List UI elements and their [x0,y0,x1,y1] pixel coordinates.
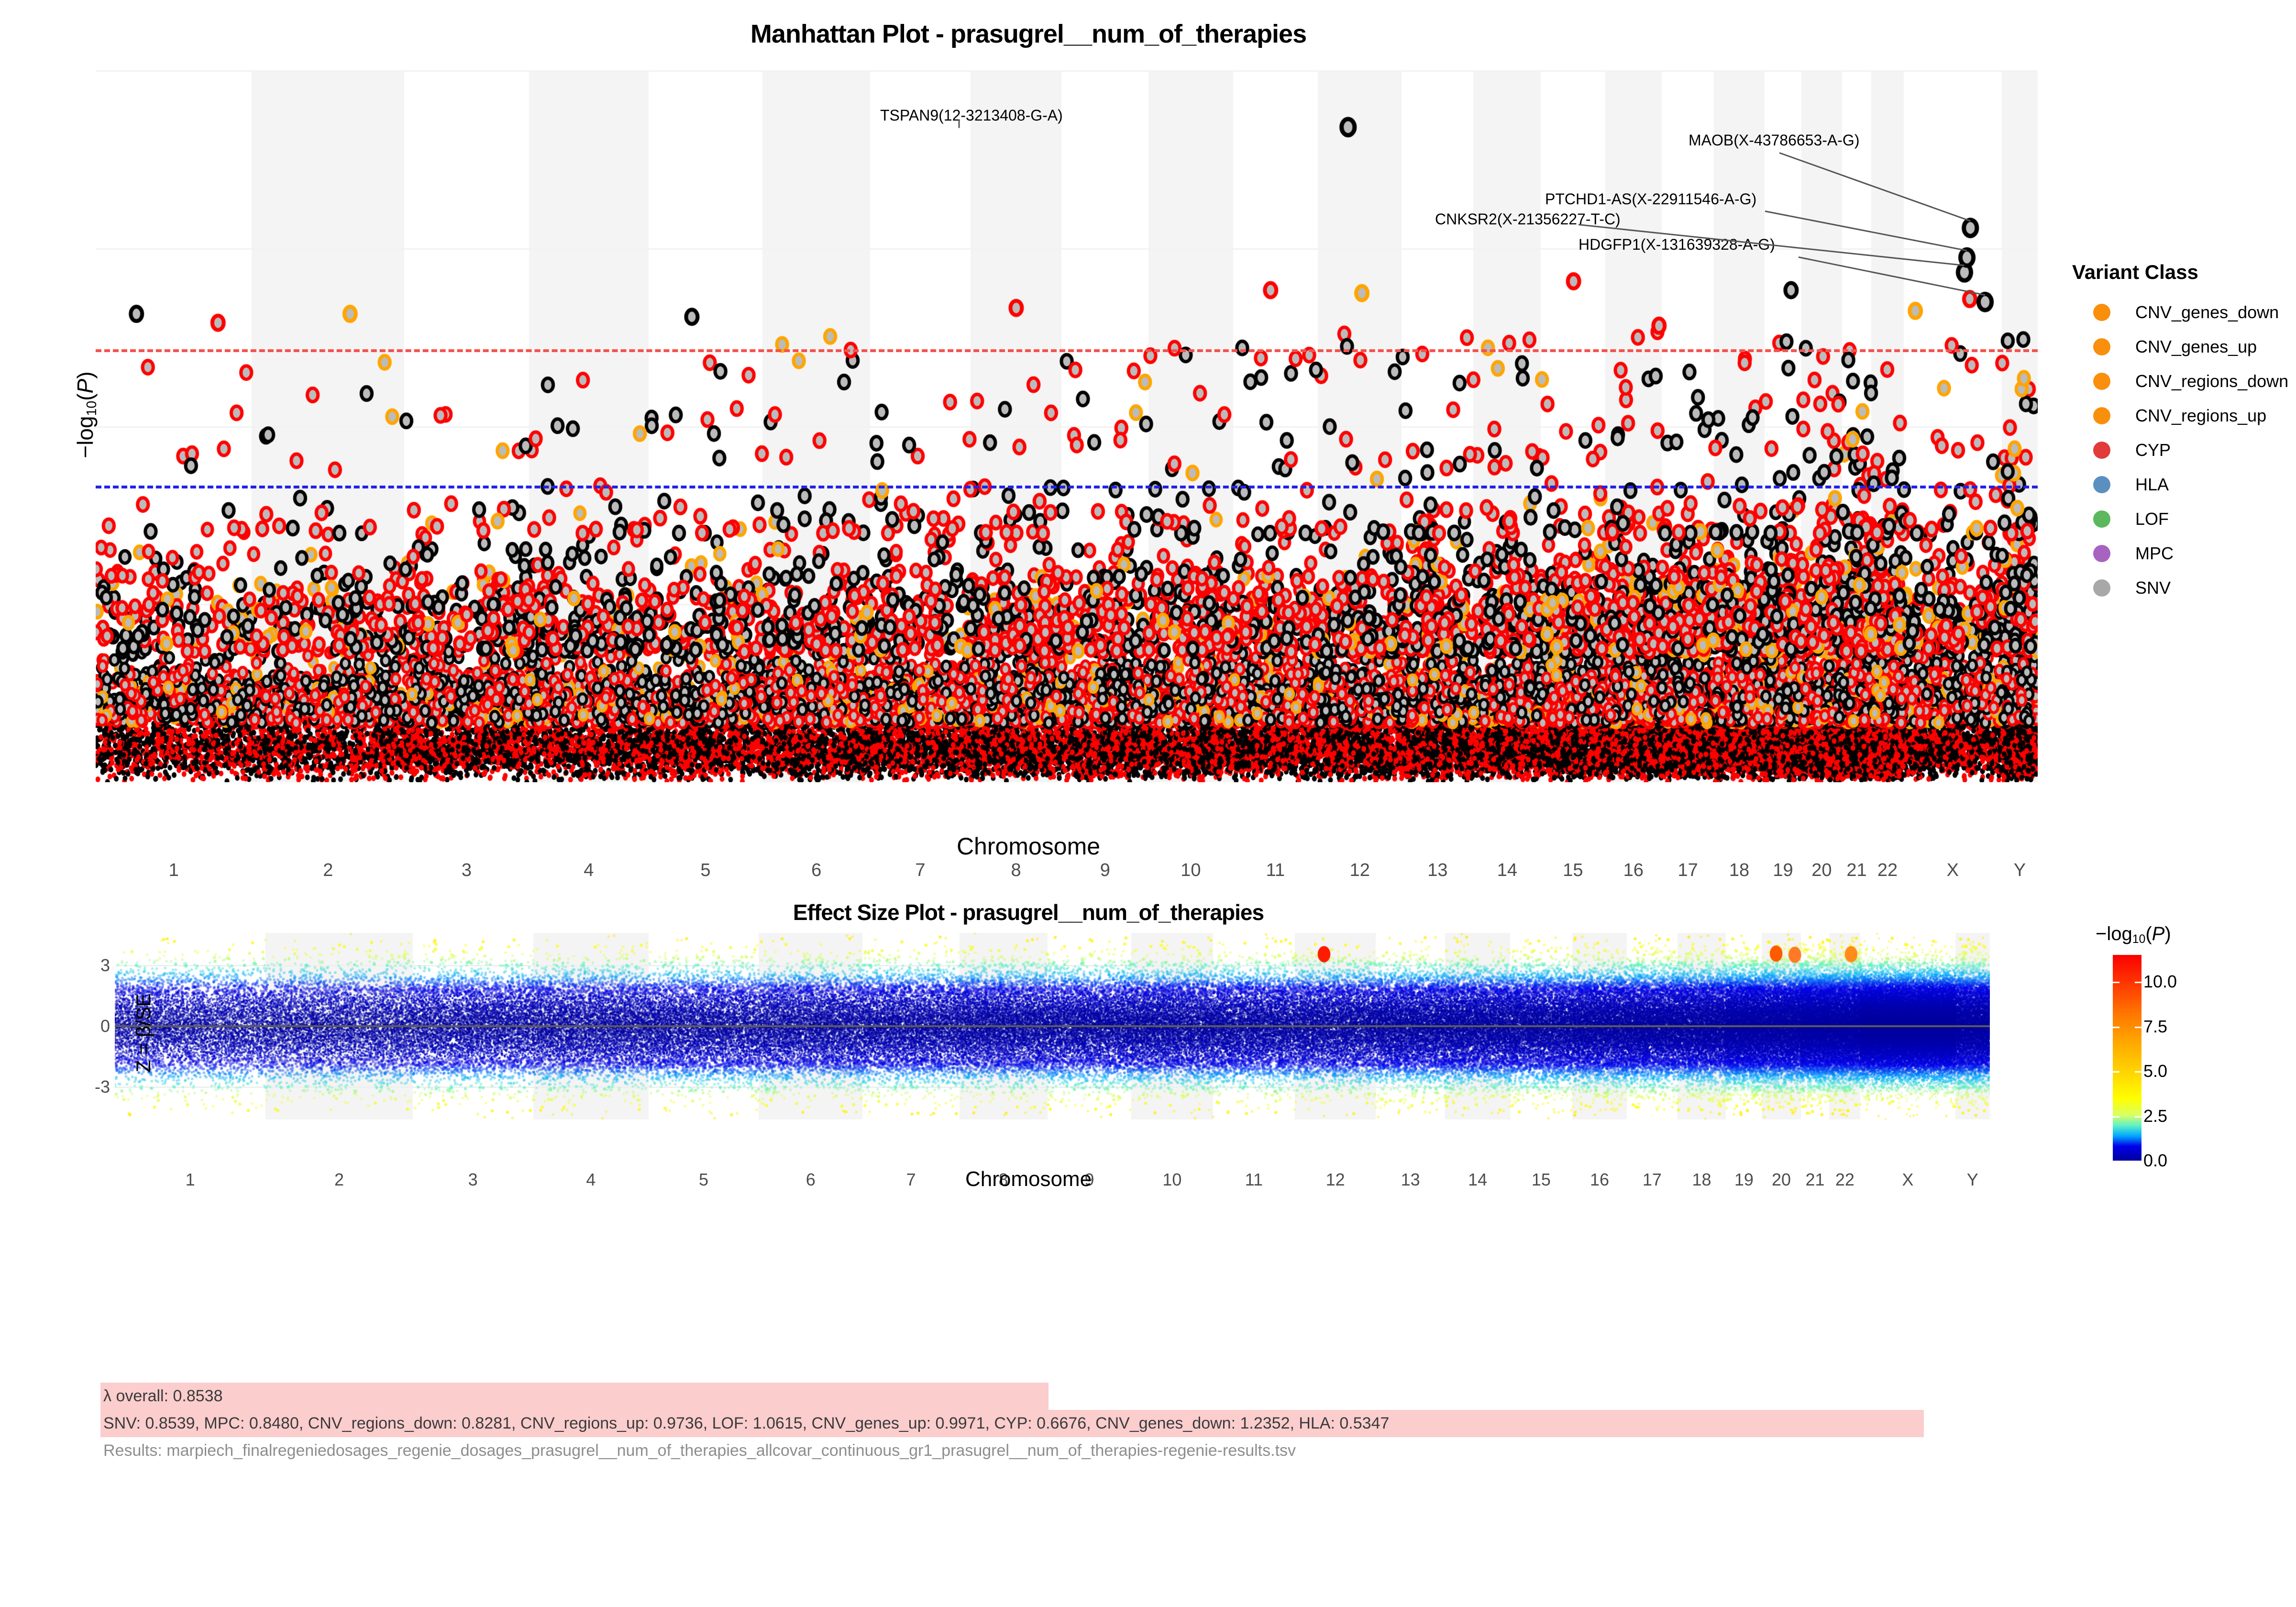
colorbar-tick-mark [2135,1027,2141,1028]
legend-item-label: SNV [2135,578,2171,598]
results-file-text: Results: marpiech_finalregeniedosages_re… [100,1437,2205,1464]
manhattan-plot-area: TSPAN9(12-3213408-G-A)CNKSR2(X-21356227-… [96,71,2038,782]
legend-color-swatch-icon [2093,476,2110,493]
manhattan-panel: Manhattan Plot - prasugrel__num_of_thera… [0,0,2057,890]
legend-item-label: CNV_genes_up [2135,337,2257,357]
effect-size-plot-title: Effect Size Plot - prasugrel__num_of_the… [0,899,2057,925]
legend-items-list: CNV_genes_downCNV_genes_upCNV_regions_do… [2072,295,2273,605]
lambda-overall-text: λ overall: 0.8538 [100,1383,1049,1410]
legend-item-label: HLA [2135,475,2169,495]
legend-item-cyp[interactable]: CYP [2072,433,2273,467]
x-tick-label-chr-11: 11 [1266,860,1285,881]
x-tick-label-chr-X: X [1947,860,1959,881]
x-tick-label-chr-21: 21 [1846,860,1866,881]
effect-size-panel: Effect Size Plot - prasugrel__num_of_the… [0,895,2057,1287]
x-tick-label-chr-1: 1 [169,860,179,881]
colorbar-tick-label: 0.0 [2143,1151,2167,1171]
variant-label: TSPAN9(12-3213408-G-A) [880,107,1063,124]
legend-item-label: MPC [2135,543,2174,564]
pvalue-colorbar: −log10(P) 0.02.55.07.510.0 [2102,923,2294,1161]
x-tick-label-chr-3: 3 [462,860,472,881]
x-tick-label-chr-18: 18 [1729,860,1749,881]
manhattan-x-axis-label: Chromosome [0,832,2057,860]
manhattan-scatter-points [96,71,2038,782]
variant-label: PTCHD1-AS(X-22911546-A-G) [1545,190,1756,208]
effect-y-tick-label: -3 [33,1077,110,1097]
colorbar-tick-mark [2113,1027,2119,1028]
x-tick-label-chr-4: 4 [584,860,594,881]
x-tick-label-chr-15: 15 [1563,860,1583,881]
x-tick-label-chr-20: 20 [1811,860,1832,881]
colorbar-tick-mark [2113,1116,2119,1118]
legend-item-label: CNV_regions_down [2135,371,2288,391]
legend-color-swatch-icon [2093,579,2110,597]
effect-size-plot-area: -303 12345678910111213141516171819202122… [115,933,1990,1119]
x-tick-label-chr-12: 12 [1350,860,1370,881]
effect-zero-line [115,1025,1990,1027]
x-tick-label-chr-10: 10 [1181,860,1201,881]
legend-item-label: CYP [2135,440,2171,460]
x-tick-label-chr-2: 2 [323,860,333,881]
legend-item-label: CNV_genes_down [2135,302,2279,322]
legend-item-mpc[interactable]: MPC [2072,536,2273,571]
genome-wide-threshold-line [96,349,2038,352]
variant-label: HDGFP1(X-131639328-A-G) [1578,236,1775,254]
legend-item-hla[interactable]: HLA [2072,467,2273,502]
colorbar-tick-label: 10.0 [2143,972,2177,992]
x-tick-label-chr-19: 19 [1773,860,1793,881]
x-tick-label-chr-22: 22 [1877,860,1898,881]
x-tick-label-chr-6: 6 [811,860,821,881]
colorbar-tick-mark [2135,1116,2141,1118]
x-tick-label-chr-7: 7 [915,860,925,881]
x-tick-label-chr-16: 16 [1623,860,1644,881]
colorbar-tick-mark [2135,1071,2141,1073]
legend-color-swatch-icon [2093,373,2110,390]
colorbar-tick-label: 2.5 [2143,1106,2167,1126]
x-tick-label-chr-8: 8 [1011,860,1021,881]
legend-item-cnv_genes_up[interactable]: CNV_genes_up [2072,330,2273,364]
effect-x-axis-label: Chromosome [0,1167,2057,1191]
legend-item-snv[interactable]: SNV [2072,571,2273,605]
lambda-per-class-text: SNV: 0.8539, MPC: 0.8480, CNV_regions_do… [100,1410,1924,1437]
x-tick-label-chr-17: 17 [1678,860,1698,881]
legend-color-swatch-icon [2093,407,2110,424]
x-tick-label-chr-14: 14 [1497,860,1517,881]
footer-info: λ overall: 0.8538 SNV: 0.8539, MPC: 0.84… [100,1383,2205,1464]
legend-item-label: LOF [2135,509,2169,529]
legend-item-cnv_genes_down[interactable]: CNV_genes_down [2072,295,2273,330]
legend-color-swatch-icon [2093,338,2110,355]
legend-item-cnv_regions_up[interactable]: CNV_regions_up [2072,399,2273,433]
legend-item-label: CNV_regions_up [2135,406,2266,426]
colorbar-title: −log10(P) [2096,923,2294,946]
legend-title: Variant Class [2072,261,2273,284]
legend-color-swatch-icon [2093,545,2110,562]
manhattan-plot-title: Manhattan Plot - prasugrel__num_of_thera… [0,19,2057,49]
x-tick-label-chr-13: 13 [1427,860,1447,881]
effect-y-tick-label: 0 [33,1016,110,1036]
legend-item-lof[interactable]: LOF [2072,502,2273,536]
y-axis-minus-log: −log10(P) [73,371,98,458]
legend-color-swatch-icon [2093,442,2110,459]
variant-class-legend: Variant Class CNV_genes_downCNV_genes_up… [2072,261,2273,605]
colorbar-tick-label: 7.5 [2143,1017,2167,1037]
x-tick-label-chr-Y: Y [2014,860,2026,881]
variant-label: MAOB(X-43786653-A-G) [1689,132,1859,149]
colorbar-tick-mark [2113,1071,2119,1073]
legend-color-swatch-icon [2093,304,2110,321]
effect-y-tick-label: 3 [33,955,110,975]
colorbar-tick-mark [2113,982,2119,983]
legend-item-cnv_regions_down[interactable]: CNV_regions_down [2072,364,2273,399]
colorbar-tick-label: 5.0 [2143,1061,2167,1081]
legend-color-swatch-icon [2093,510,2110,528]
suggestive-threshold-line [96,486,2038,488]
x-tick-label-chr-5: 5 [700,860,710,881]
colorbar-tick-mark [2135,982,2141,983]
x-tick-label-chr-9: 9 [1100,860,1110,881]
colorbar-gradient: 0.02.55.07.510.0 [2113,955,2141,1161]
annotation-leader-line [959,119,960,128]
